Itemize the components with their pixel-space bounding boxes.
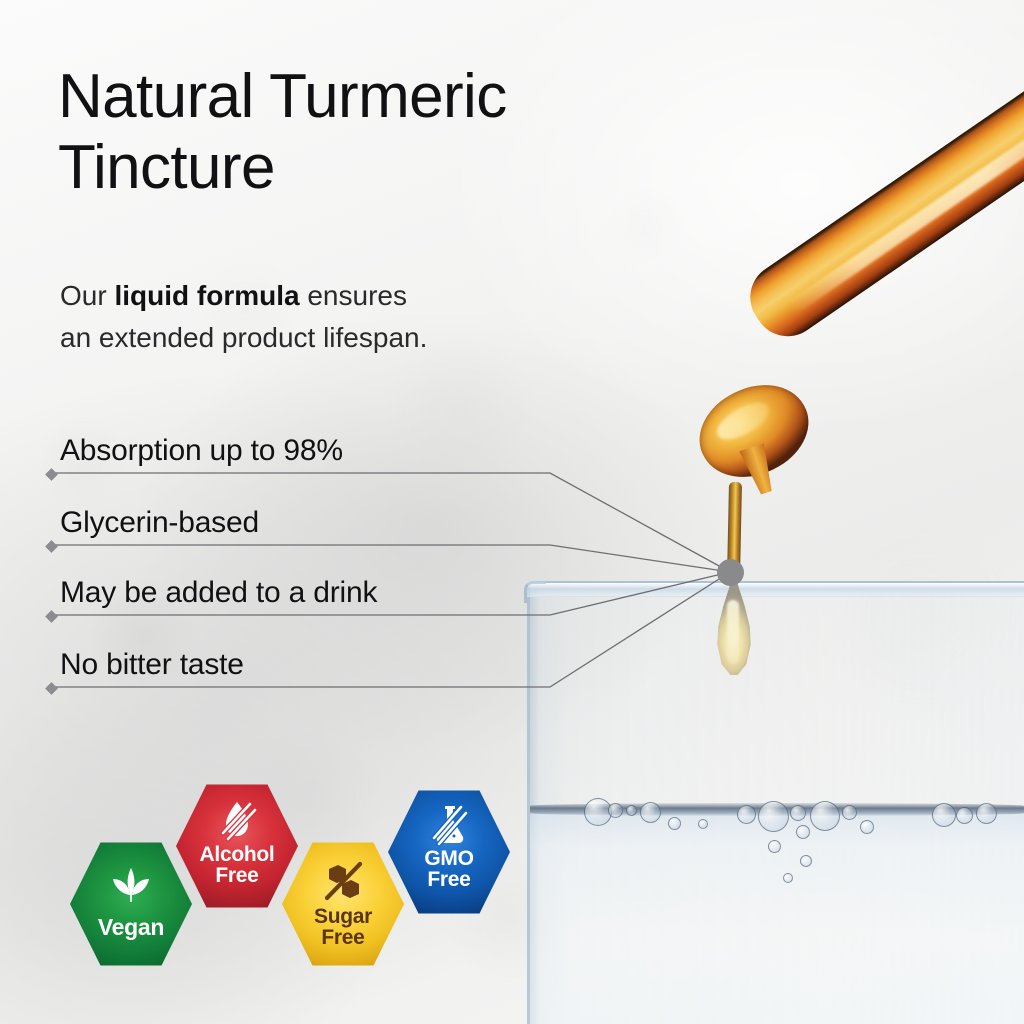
feature-item: Absorption up to 98% [60, 434, 343, 468]
feature-item: No bitter taste [60, 648, 244, 682]
feature-label: Absorption up to 98% [60, 434, 343, 467]
badge-label-line1: Sugar [282, 906, 404, 927]
title-line-2: Tincture [58, 133, 718, 204]
badge-label: Alcohol Free [176, 844, 298, 887]
diamond-marker [45, 610, 58, 623]
feature-item: May be added to a drink [60, 576, 377, 610]
page-subtitle: Our liquid formula ensures an extended p… [60, 275, 580, 359]
page-title: Natural Turmeric Tincture [58, 62, 718, 203]
feature-label: May be added to a drink [60, 576, 377, 609]
badge-label-line2: Free [388, 869, 510, 890]
feature-label: No bitter taste [60, 648, 244, 681]
product-infographic: Absorption up to 98% Glycerin-based May … [0, 0, 1024, 1024]
feature-item: Glycerin-based [60, 506, 259, 540]
title-line-1: Natural Turmeric [58, 62, 718, 133]
badge-label-line1: GMO [388, 848, 510, 869]
badge-label-line2: Free [282, 927, 404, 948]
badge-label: Sugar Free [282, 906, 404, 949]
diamond-marker [45, 468, 58, 481]
badge-gmo-free: GMO Free [388, 788, 510, 916]
subtitle-line-2: an extended product lifespan. [60, 317, 580, 359]
subtitle-emphasis: liquid formula [114, 280, 299, 311]
badge-sugar-free: Sugar Free [282, 840, 404, 968]
badge-vegan: Vegan [70, 840, 192, 968]
badge-alcohol-free: Alcohol Free [176, 782, 298, 910]
badge-label-line1: Alcohol [176, 844, 298, 865]
diamond-marker [45, 540, 58, 553]
leaf-icon [70, 862, 192, 910]
badge-label: Vegan [70, 916, 192, 939]
no-alcohol-droplet-icon [176, 798, 298, 844]
subtitle-post: ensures [300, 280, 407, 311]
feature-label: Glycerin-based [60, 506, 259, 539]
diamond-marker [45, 682, 58, 695]
badge-label-line2: Free [176, 865, 298, 886]
badge-label-line1: Vegan [98, 914, 164, 940]
no-sugar-cubes-icon [282, 860, 404, 904]
no-gmo-flask-icon [388, 802, 510, 848]
subtitle-pre: Our [60, 280, 114, 311]
badge-label: GMO Free [388, 848, 510, 891]
